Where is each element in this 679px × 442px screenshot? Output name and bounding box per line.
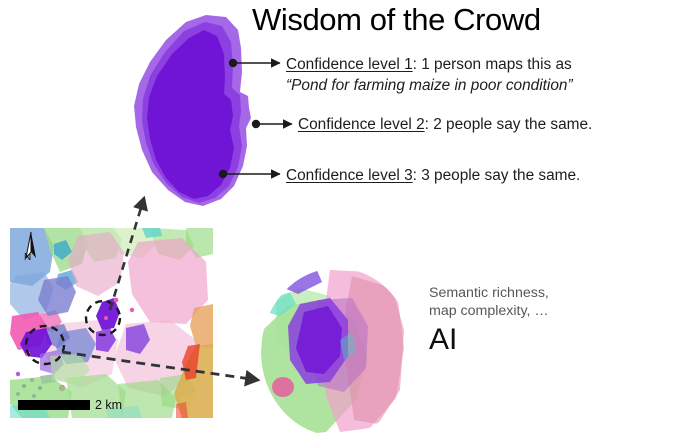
figure-canvas: Wisdom of the Crowd Confidence level 1: … [0,0,679,442]
semantic-richness-line-1: Semantic richness, [429,284,549,302]
scalebar-label: 2 km [95,398,122,412]
callout-confidence-level-2: Confidence level 2: 2 people say the sam… [298,115,592,135]
callout-confidence-level-3: Confidence level 3: 3 people say the sam… [286,166,580,186]
inset-polygon-teal-2 [340,332,356,360]
callout-1-quote: “Pond for farming maize in poor conditio… [286,76,573,96]
callout-2-lead: Confidence level 2 [298,116,425,133]
callout-2-body: : 2 people say the same. [425,116,593,133]
leader-arrow-icon-2 [252,120,292,128]
inset-polygon-purple-dark [296,306,342,374]
callout-3-body: : 3 people say the same. [413,167,581,184]
map-inset: N 2 km [10,228,213,418]
inset-polygon-teal [266,292,296,316]
inset-dot-pink [272,377,294,397]
confidence-polygon-level-2 [142,22,242,203]
callout-1-lead: Confidence level 1 [286,56,413,73]
inset-polygon-pink-2 [346,276,404,424]
inset-polygon-purple [288,298,348,384]
inset-polygon-pink [322,270,404,432]
confidence-polygon-level-3 [147,30,234,199]
semantic-richness-line-2: map complexity, … [429,302,549,320]
inset-polygon-mauve [308,298,368,392]
callout-1-body: : 1 person maps this as [413,56,572,73]
inset-polygon-green [259,300,368,436]
scalebar-icon [18,400,90,410]
north-label: N [24,252,31,263]
leader-arrow-icon-1 [229,59,280,67]
leader-arrow-icon-3 [219,170,280,178]
ai-text-block: Semantic richness, map complexity, … AI [429,284,549,357]
inset-polygon-violet-sliver [284,268,322,294]
confidence-polygon-level-1 [134,15,251,206]
ai-heading: AI [429,323,549,357]
inset-polygon-green-2 [276,288,340,358]
page-title: Wisdom of the Crowd [252,2,672,38]
callout-3-lead: Confidence level 3 [286,167,413,184]
scalebar: 2 km [18,398,122,412]
callout-confidence-level-1: Confidence level 1: 1 person maps this a… [286,55,573,96]
